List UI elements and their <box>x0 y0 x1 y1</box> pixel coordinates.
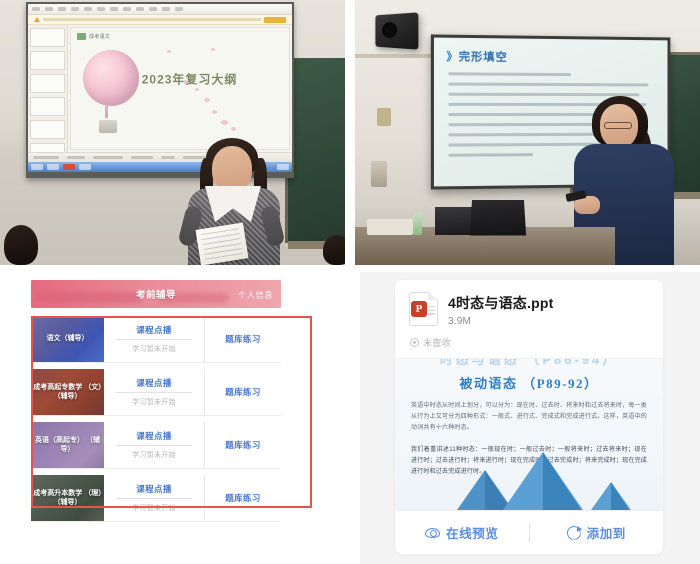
question-bank-button[interactable]: 题库练习 <box>205 422 281 468</box>
course-list: 语文（辅导） 课程点播 学习暂未开始 题库练习 成考高起专数学 （文）（辅导） … <box>31 316 281 528</box>
slide-title: 2023年复习大纲 <box>142 70 238 87</box>
student-head <box>323 235 345 265</box>
slide-logo: 成考语文 <box>77 33 110 40</box>
logo-mark-icon <box>77 33 86 40</box>
question-bank-button[interactable]: 题库练习 <box>205 475 281 521</box>
enable-button <box>264 17 286 23</box>
page-title: 考前辅导 <box>136 287 176 301</box>
preview-title: 被动语态 （P89-92） <box>395 373 663 392</box>
add-to-icon <box>567 526 581 540</box>
wall-speaker <box>375 12 418 49</box>
slide-logo-text: 成考语文 <box>89 33 110 40</box>
file-size: 3.9M <box>448 316 649 327</box>
file-card: P 4时态与语态.ppt 3.9M 未查收 时态与语态 （P86-94） 被动语… <box>395 280 663 554</box>
mountain-graphic <box>395 458 663 510</box>
list-item[interactable]: 英语（高起专） （辅导） 课程点播 学习暂未开始 题库练习 <box>31 422 281 469</box>
file-header: P 4时态与语态.ppt 3.9M <box>395 280 663 327</box>
question-bank-button[interactable]: 题库练习 <box>205 369 281 415</box>
security-warning-bar <box>28 15 292 25</box>
water-bottle <box>413 213 422 235</box>
course-thumbnail: 成考高升本数学 （理）（辅导） <box>31 475 104 521</box>
course-thumbnail: 成考高起专数学 （文）（辅导） <box>31 369 104 415</box>
wall-fixture <box>377 108 391 126</box>
preview-paragraph: 英语中时态从时间上划分，可以分为：现在时、过去时、将来时和过去将来时，每一类从行… <box>411 401 647 434</box>
file-name: 4时态与语态.ppt <box>448 293 649 313</box>
course-playback-cell[interactable]: 课程点播 学习暂未开始 <box>104 369 205 415</box>
course-playback-label: 课程点播 <box>116 324 192 340</box>
laptop <box>435 207 473 235</box>
file-type-letter: P <box>411 301 427 317</box>
glasses-icon <box>604 122 632 129</box>
course-status-label: 学习暂未开始 <box>132 340 176 354</box>
online-preview-button[interactable]: 在线预览 <box>395 523 529 542</box>
app-header: 考前辅导 个人信息 <box>31 280 281 308</box>
course-playback-cell[interactable]: 课程点播 学习暂未开始 <box>104 422 205 468</box>
laptop <box>470 200 526 236</box>
classroom-lecture-photo: 成考语文 2023年复习大纲 <box>0 0 345 265</box>
course-playback-cell[interactable]: 课程点播 学习暂未开始 <box>104 316 205 362</box>
course-status-label: 学习暂未开始 <box>132 499 176 513</box>
file-card-screenshot: P 4时态与语态.ppt 3.9M 未查收 时态与语态 （P86-94） 被动语… <box>360 272 700 564</box>
question-bank-button[interactable]: 题库练习 <box>205 316 281 362</box>
status-badge: 未查收 <box>423 336 451 349</box>
current-slide: 成考语文 2023年复习大纲 <box>70 27 290 150</box>
screenshot-collage: 成考语文 2023年复习大纲 <box>0 0 700 564</box>
file-status-row: 未查收 <box>395 327 663 358</box>
eye-icon <box>425 528 440 538</box>
profile-link[interactable]: 个人信息 <box>238 289 273 301</box>
course-thumbnail: 语文（辅导） <box>31 316 104 362</box>
classroom-lecture-photo-2: 完形填空 <box>355 0 700 265</box>
file-action-bar: 在线预览 添加到 <box>395 510 663 554</box>
student-head <box>4 225 38 265</box>
course-playback-label: 课程点播 <box>116 483 192 499</box>
course-playback-cell[interactable]: 课程点播 学习暂未开始 <box>104 475 205 521</box>
powerpoint-ribbon <box>28 4 292 15</box>
course-status-label: 学习暂未开始 <box>132 446 176 460</box>
slide-thumbnail-pane <box>28 25 68 152</box>
course-playback-label: 课程点播 <box>116 377 192 393</box>
warning-triangle-icon <box>34 17 40 22</box>
powerpoint-file-icon: P <box>409 292 438 326</box>
hot-air-balloon-graphic <box>83 50 139 106</box>
list-item[interactable]: 成考高升本数学 （理）（辅导） 课程点播 学习暂未开始 题库练习 <box>31 475 281 522</box>
wall-switch <box>371 161 387 187</box>
list-item[interactable]: 成考高起专数学 （文）（辅导） 课程点播 学习暂未开始 题库练习 <box>31 369 281 416</box>
slide-title: 完形填空 <box>446 48 507 65</box>
add-to-button[interactable]: 添加到 <box>530 523 664 542</box>
status-icon <box>410 338 419 347</box>
balloon-basket-graphic <box>99 120 117 133</box>
course-playback-label: 课程点播 <box>116 430 192 446</box>
course-thumbnail: 英语（高起专） （辅导） <box>31 422 104 468</box>
desk-item <box>367 219 413 235</box>
online-preview-label: 在线预览 <box>446 523 498 542</box>
preview-ghost-title: 时态与语态 （P86-94） <box>395 358 663 368</box>
list-item[interactable]: 语文（辅导） 课程点播 学习暂未开始 题库练习 <box>31 316 281 363</box>
course-status-label: 学习暂未开始 <box>132 393 176 407</box>
add-to-label: 添加到 <box>587 523 626 542</box>
handout-paper <box>195 222 248 265</box>
teacher-figure <box>178 140 288 265</box>
chalkboard <box>285 58 345 243</box>
file-preview[interactable]: 时态与语态 （P86-94） 被动语态 （P89-92） 英语中时态从时间上划分… <box>395 358 663 510</box>
course-list-screenshot: 考前辅导 个人信息 语文（辅导） 课程点播 学习暂未开始 题库练习 成考高起专数… <box>0 272 345 564</box>
